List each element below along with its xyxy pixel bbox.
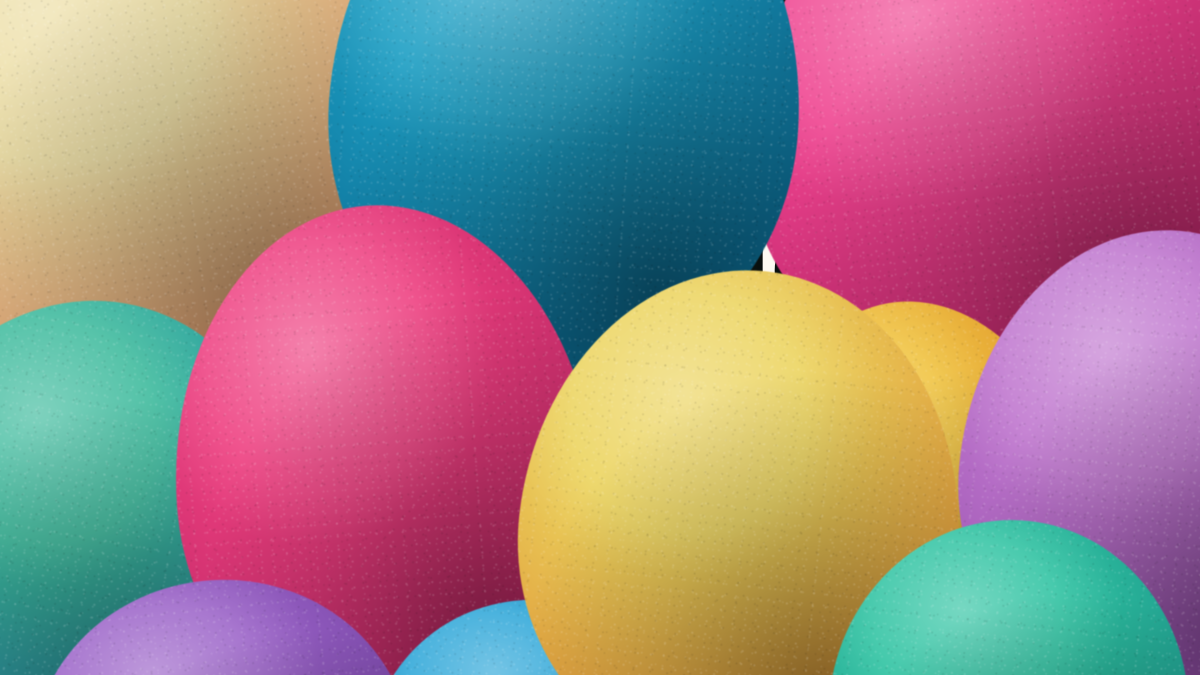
poster-canvas: Holy Week in an Eggshell LEARN ABOUT THE…: [0, 0, 1200, 675]
easter-eggs-background: [0, 0, 1200, 675]
